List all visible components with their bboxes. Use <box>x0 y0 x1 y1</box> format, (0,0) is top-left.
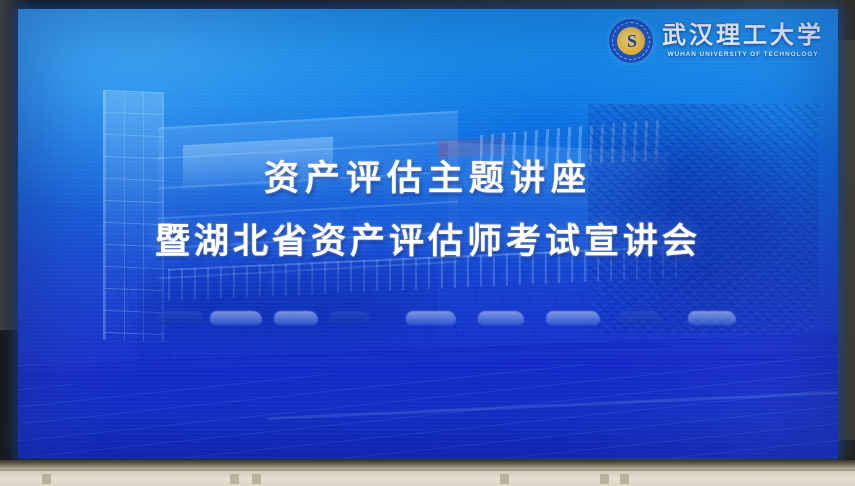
wall-mark <box>500 474 509 484</box>
university-name-block: 武汉理工大学 WUHAN UNIVERSITY OF TECHNOLOGY <box>662 24 824 59</box>
car <box>618 311 660 325</box>
wall-below-screen <box>0 460 855 486</box>
car <box>546 311 600 325</box>
car <box>478 311 524 325</box>
wall-mark <box>620 474 629 484</box>
university-name-en: WUHAN UNIVERSITY OF TECHNOLOGY <box>667 52 818 59</box>
car <box>688 311 736 325</box>
car <box>210 311 262 325</box>
room-photo-frame: S 武汉理工大学 WUHAN UNIVERSITY OF TECHNOLOGY … <box>0 0 855 486</box>
slide-title-line-2: 暨湖北省资产评估师考试宣讲会 <box>18 222 838 262</box>
slide-title-line-1: 资产评估主题讲座 <box>18 159 838 199</box>
university-branding: S 武汉理工大学 WUHAN UNIVERSITY OF TECHNOLOGY <box>609 19 824 63</box>
wall-mark <box>42 474 51 484</box>
car <box>406 311 456 325</box>
wall-mark <box>600 474 609 484</box>
university-emblem-icon: S <box>609 19 653 63</box>
led-display-screen: S 武汉理工大学 WUHAN UNIVERSITY OF TECHNOLOGY … <box>18 9 838 458</box>
wall-mark <box>230 474 239 484</box>
car <box>274 311 318 325</box>
car <box>330 311 370 325</box>
wall-mark <box>252 474 261 484</box>
parked-cars-row <box>148 309 788 331</box>
emblem-monogram: S <box>609 19 653 63</box>
slide-title-group: 资产评估主题讲座 暨湖北省资产评估师考试宣讲会 <box>18 159 838 263</box>
car <box>158 311 204 325</box>
university-name-cn: 武汉理工大学 <box>662 24 824 48</box>
